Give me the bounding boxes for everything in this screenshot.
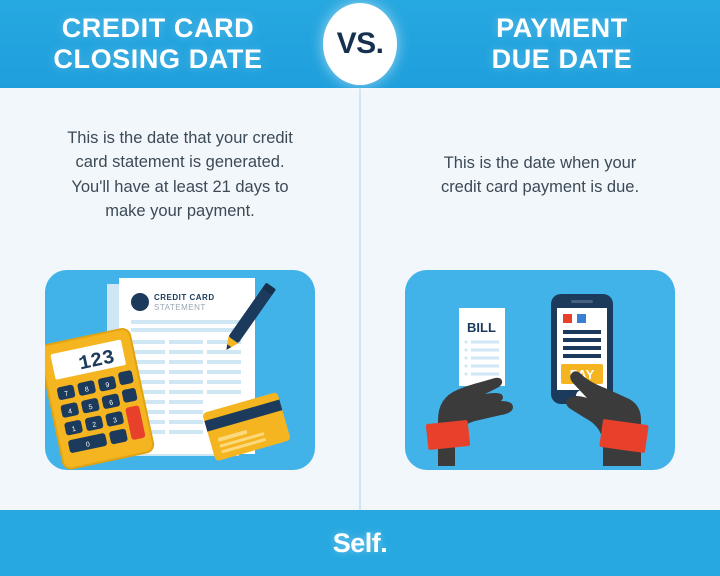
self-logo: Self. — [333, 528, 388, 559]
statement-title-line1: CREDIT CARD — [154, 293, 215, 302]
bill-document: BILL — [459, 308, 505, 386]
header-title-right: PAYMENT DUE DATE — [360, 13, 720, 76]
vs-label: VS. — [337, 27, 384, 61]
footer-bar: Self. — [0, 510, 720, 576]
header-title-left: CREDIT CARD CLOSING DATE — [0, 13, 360, 76]
panel-due-date: This is the date when your credit card p… — [360, 88, 720, 510]
bill-label: BILL — [467, 320, 496, 335]
phone-speaker-icon — [571, 300, 593, 303]
app-icon-red — [563, 314, 572, 323]
app-icon-blue — [577, 314, 586, 323]
left-hand-icon — [426, 378, 513, 466]
infographic-root: CREDIT CARD CLOSING DATE PAYMENT DUE DAT… — [0, 0, 720, 576]
statement-title-line2: STATEMENT — [154, 303, 206, 312]
panel-right-description: This is the date when your credit card p… — [360, 151, 720, 200]
illustration-card-left: CREDIT CARD STATEMENT — [45, 270, 315, 470]
illustration-card-right: BILL — [405, 270, 675, 470]
center-divider — [359, 88, 361, 510]
panel-closing-date: This is the date that your credit card s… — [0, 88, 360, 510]
credit-card-statement-illustration: CREDIT CARD STATEMENT — [45, 270, 315, 470]
bill-payment-illustration: BILL — [405, 270, 675, 470]
header-banner: CREDIT CARD CLOSING DATE PAYMENT DUE DAT… — [0, 0, 720, 88]
panel-left-description: This is the date that your credit card s… — [0, 126, 360, 224]
vs-badge: VS. — [323, 3, 397, 85]
statement-logo-icon — [131, 293, 149, 311]
